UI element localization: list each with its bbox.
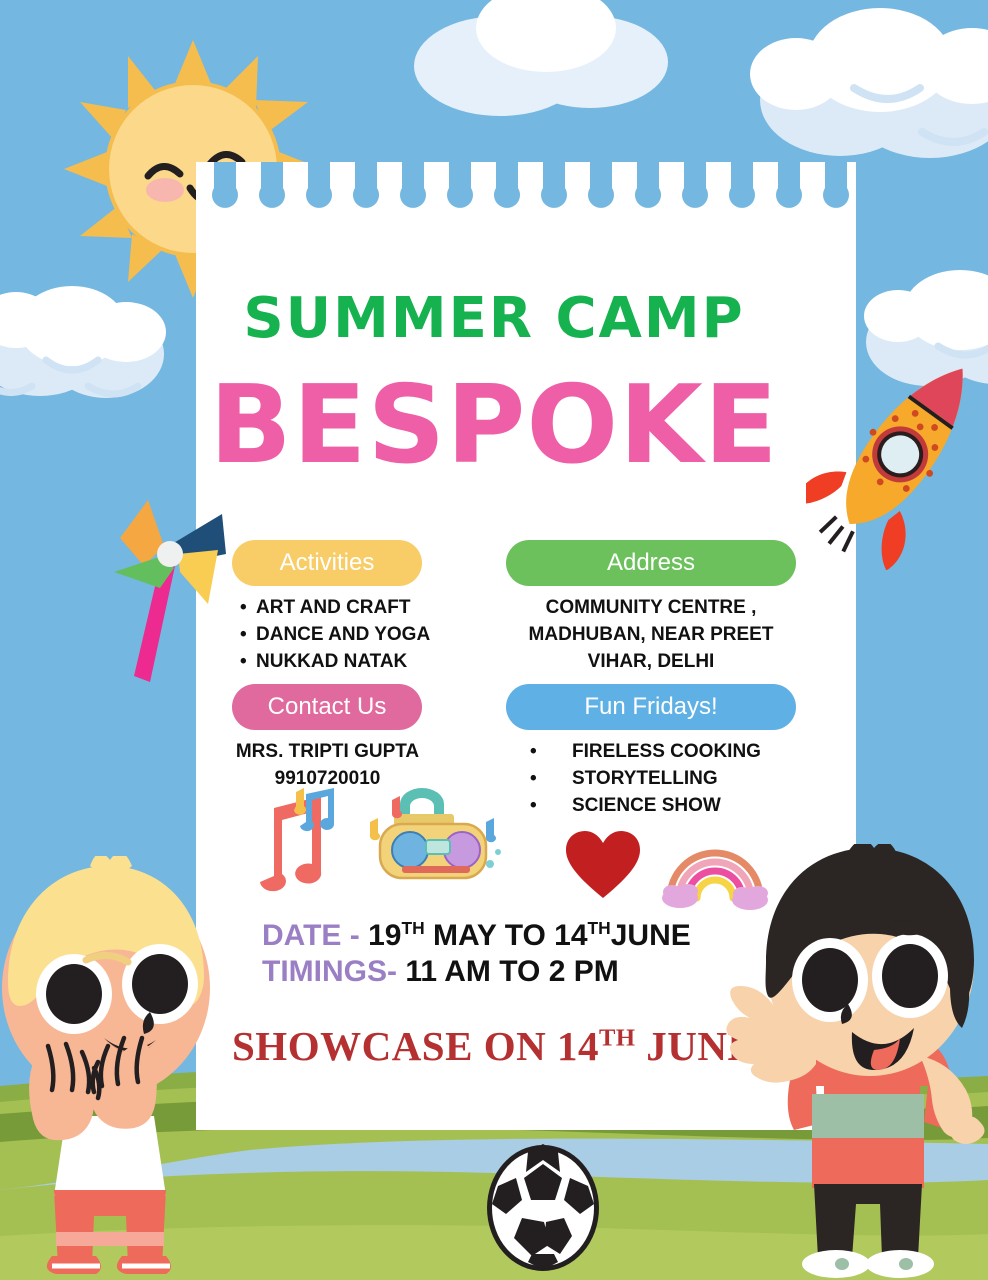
activities-list: •ART AND CRAFT •DANCE AND YOGA •NUKKAD N… xyxy=(240,594,490,675)
list-item: •DANCE AND YOGA xyxy=(240,621,490,648)
contact-name: MRS. TRIPTI GUPTA xyxy=(225,738,430,765)
child-right-illustration xyxy=(724,844,988,1280)
list-item: •ART AND CRAFT xyxy=(240,594,490,621)
list-item: •FIRELESS COOKING xyxy=(530,738,810,765)
pinwheel-icon xyxy=(104,492,232,698)
fun-fridays-list: •FIRELESS COOKING •STORYTELLING •SCIENCE… xyxy=(530,738,810,819)
boombox-icon xyxy=(352,782,502,894)
heart-icon xyxy=(562,828,644,902)
list-item: •SCIENCE SHOW xyxy=(530,792,810,819)
notepad-torn-edge xyxy=(196,162,856,224)
list-item: •NUKKAD NATAK xyxy=(240,648,490,675)
cloud-top-center xyxy=(390,0,690,120)
music-notes-icon xyxy=(238,786,338,894)
pill-fun-fridays: Fun Fridays! xyxy=(506,684,796,730)
address-block: COMMUNITY CENTRE , MADHUBAN, NEAR PREET … xyxy=(506,594,796,675)
pill-activities: Activities xyxy=(232,540,422,586)
pill-contact-us: Contact Us xyxy=(232,684,422,730)
child-left-illustration xyxy=(0,856,226,1280)
soccer-ball-icon xyxy=(484,1142,602,1274)
page-title-line2: BESPOKE xyxy=(0,372,988,480)
address-line: VIHAR, DELHI xyxy=(506,648,796,675)
address-line: COMMUNITY CENTRE , xyxy=(506,594,796,621)
pill-address: Address xyxy=(506,540,796,586)
poster-canvas: SUMMER CAMP BESPOKE Activities •ART AND … xyxy=(0,0,988,1280)
page-title-line1: SUMMER CAMP xyxy=(0,286,988,351)
address-line: MADHUBAN, NEAR PREET xyxy=(506,621,796,648)
list-item: •STORYTELLING xyxy=(530,765,810,792)
